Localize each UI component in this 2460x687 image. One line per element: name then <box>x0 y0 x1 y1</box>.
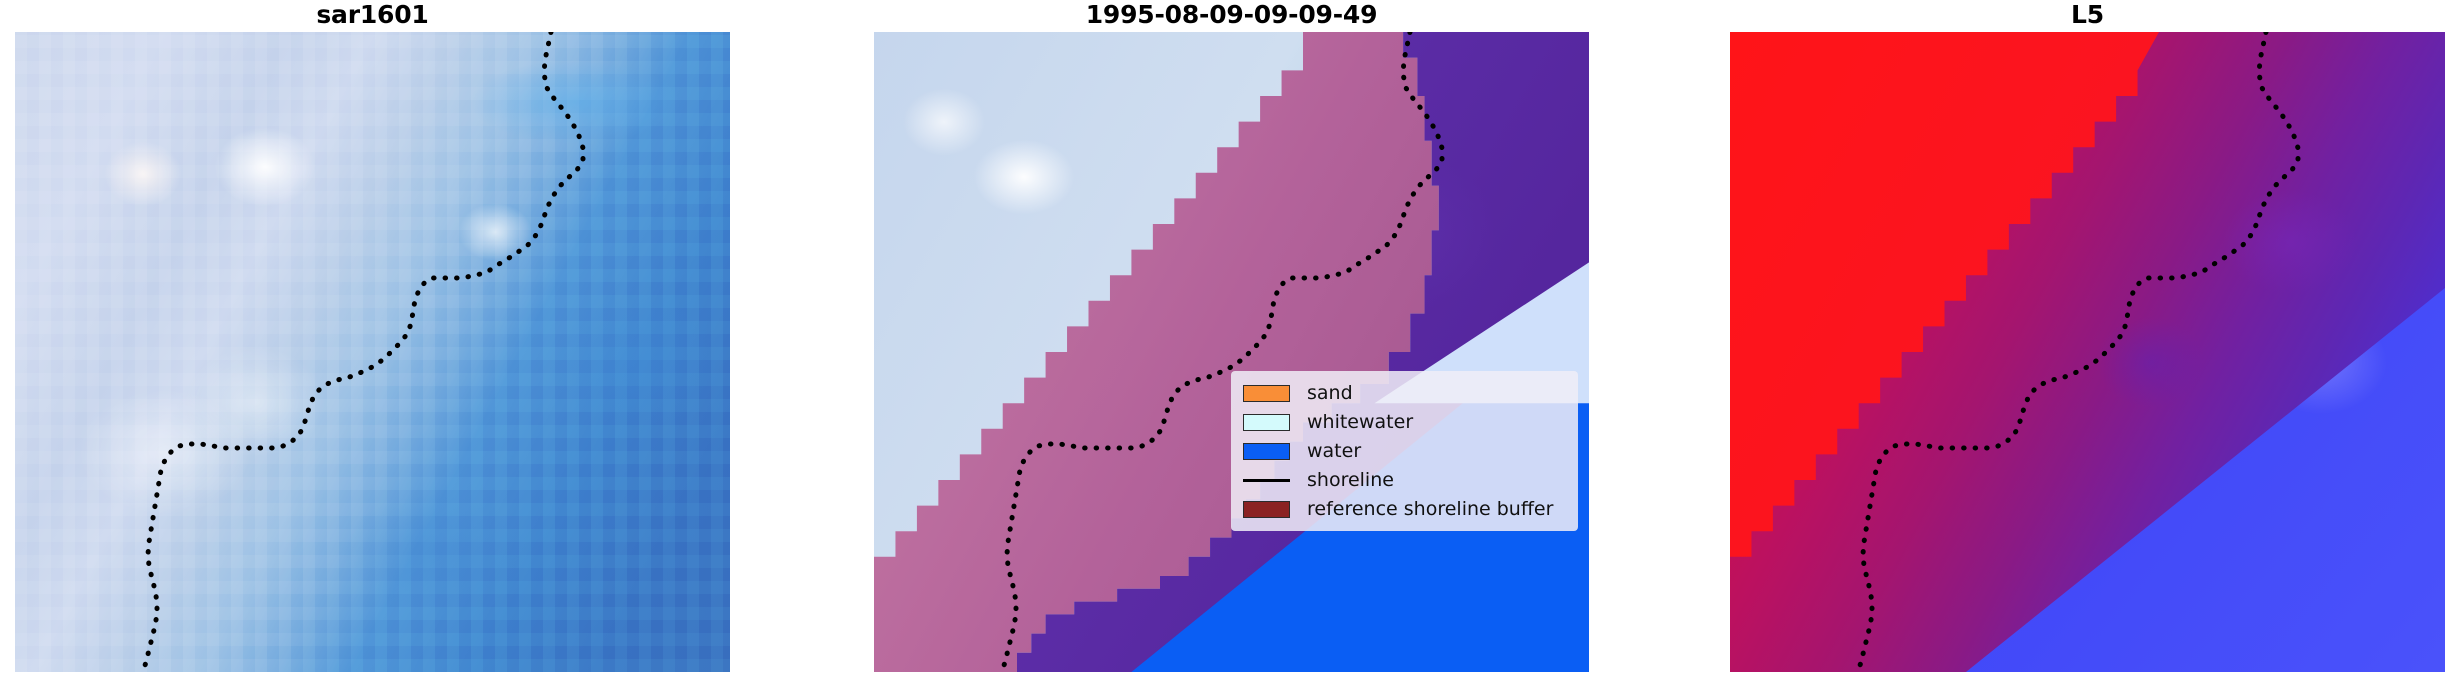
legend-item-whitewater: whitewater <box>1243 410 1566 434</box>
legend-label-whitewater: whitewater <box>1307 411 1413 433</box>
shoreline-overlay-panel-3 <box>1730 32 2445 672</box>
legend-item-reference-shoreline-buffer: reference shoreline buffer <box>1243 497 1566 521</box>
legend-swatch-water <box>1243 443 1290 460</box>
legend-label-sand: sand <box>1307 382 1353 404</box>
panel-1-title: sar1601 <box>15 0 730 32</box>
panel-3-title: L5 <box>1730 0 2445 32</box>
panel-rgb-image[interactable] <box>15 32 730 672</box>
legend-swatch-whitewater <box>1243 414 1290 431</box>
legend-item-shoreline: shoreline <box>1243 468 1566 492</box>
panel-2-title: 1995-08-09-09-09-49 <box>874 0 1589 32</box>
shoreline-path <box>1002 32 1442 672</box>
shoreline-overlay-panel-2 <box>874 32 1589 672</box>
legend-label-reference-shoreline-buffer: reference shoreline buffer <box>1307 498 1553 520</box>
shoreline-path <box>1858 32 2298 672</box>
legend-swatch-sand <box>1243 385 1290 402</box>
legend-item-water: water <box>1243 439 1566 463</box>
shoreline-path <box>143 32 583 672</box>
shoreline-overlay-panel-1 <box>15 32 730 672</box>
panel-index-image[interactable] <box>1730 32 2445 672</box>
legend-item-sand: sand <box>1243 381 1566 405</box>
legend-label-water: water <box>1307 440 1361 462</box>
legend: sand whitewater water shoreline referenc… <box>1231 371 1578 531</box>
legend-label-shoreline: shoreline <box>1307 469 1394 491</box>
legend-swatch-shoreline <box>1243 472 1290 489</box>
figure-canvas: sar1601 1995-08-09-09-09-49 L5 sand <box>0 0 2460 687</box>
panel-classification[interactable]: sand whitewater water shoreline referenc… <box>874 32 1589 672</box>
legend-swatch-reference-shoreline-buffer <box>1243 501 1290 518</box>
